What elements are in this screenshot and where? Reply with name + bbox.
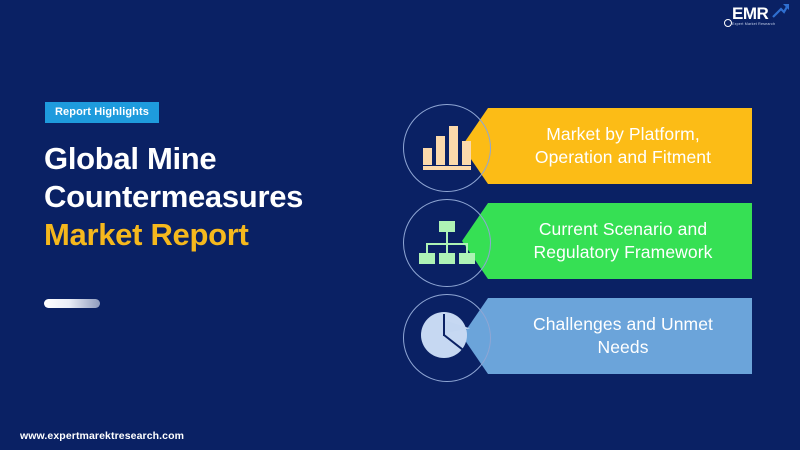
- title-line-1: Global Mine: [44, 140, 384, 178]
- title-divider: [44, 299, 100, 308]
- footer-website-url: www.expertmarektresearch.com: [20, 430, 184, 442]
- title-line-3: Market Report: [44, 216, 384, 254]
- highlight-card-icon-ring: [403, 294, 491, 382]
- highlight-card-panel[interactable]: Market by Platform, Operation and Fitmen…: [462, 108, 752, 184]
- highlight-card[interactable]: Current Scenario and Regulatory Framewor…: [400, 199, 800, 291]
- highlight-card[interactable]: Challenges and Unmet Needs: [400, 294, 800, 386]
- org-chart-icon: [422, 221, 472, 265]
- highlight-card-label: Challenges and Unmet Needs: [508, 313, 738, 359]
- page-title: Global Mine Countermeasures Market Repor…: [44, 140, 384, 254]
- pie-chart-icon: [421, 312, 473, 364]
- highlight-card-list: Market by Platform, Operation and Fitmen…: [400, 0, 800, 450]
- report-highlights-badge: Report Highlights: [45, 102, 159, 123]
- highlight-card[interactable]: Market by Platform, Operation and Fitmen…: [400, 104, 800, 196]
- bar-chart-icon: [423, 126, 471, 170]
- title-line-2: Countermeasures: [44, 178, 384, 216]
- slide-canvas: EMR Expert Market Research Report Highli…: [0, 0, 800, 450]
- highlight-card-panel[interactable]: Current Scenario and Regulatory Framewor…: [462, 203, 752, 279]
- highlight-card-label: Market by Platform, Operation and Fitmen…: [508, 123, 738, 169]
- highlight-card-panel[interactable]: Challenges and Unmet Needs: [462, 298, 752, 374]
- highlight-card-icon-ring: [403, 199, 491, 287]
- highlight-card-icon-ring: [403, 104, 491, 192]
- highlight-card-label: Current Scenario and Regulatory Framewor…: [508, 218, 738, 264]
